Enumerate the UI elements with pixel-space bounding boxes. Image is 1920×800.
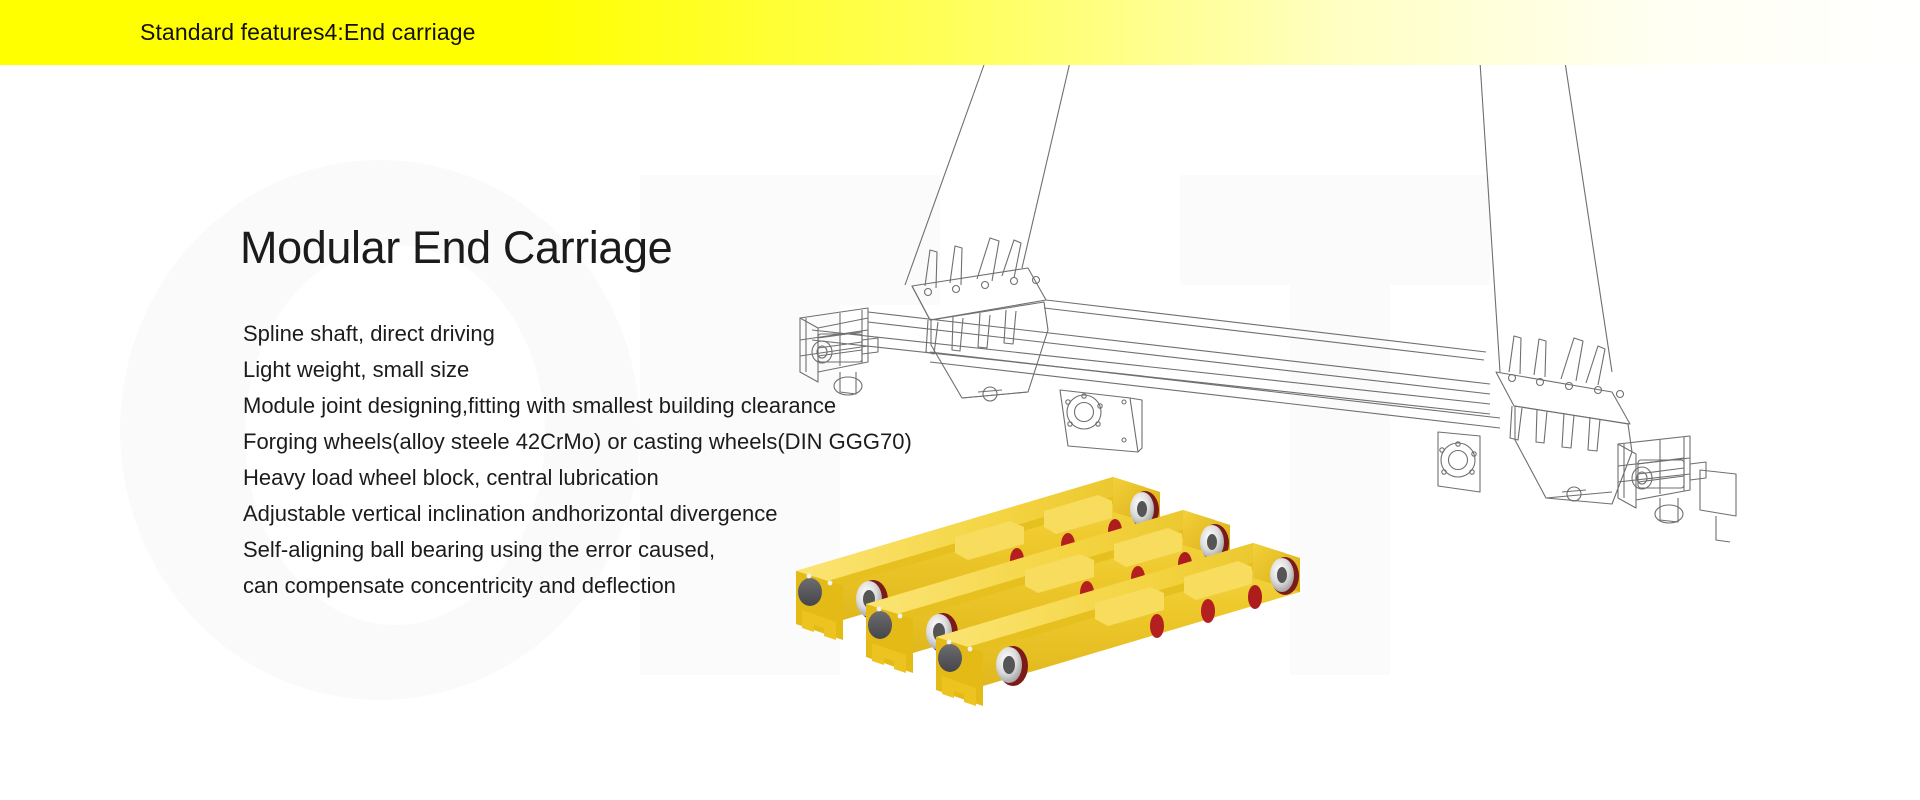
header-banner: Standard features4:End carriage [0,0,1920,65]
feature-item: Spline shaft, direct driving [243,316,912,352]
feature-item: Self-aligning ball bearing using the err… [243,532,912,568]
feature-list: Spline shaft, direct driving Light weigh… [243,316,912,604]
banner-title: Standard features4:End carriage [140,19,476,46]
feature-item: Module joint designing,fitting with smal… [243,388,912,424]
feature-item: Adjustable vertical inclination andhoriz… [243,496,912,532]
feature-item: Forging wheels(alloy steele 42CrMo) or c… [243,424,912,460]
feature-item: Light weight, small size [243,352,912,388]
slide-canvas: Standard features4:End carriage Modular … [0,0,1920,800]
wireframe-crane-assembly [800,62,1736,542]
page-title: Modular End Carriage [240,222,672,274]
feature-item: can compensate concentricity and deflect… [243,568,912,604]
feature-item: Heavy load wheel block, central lubricat… [243,460,912,496]
